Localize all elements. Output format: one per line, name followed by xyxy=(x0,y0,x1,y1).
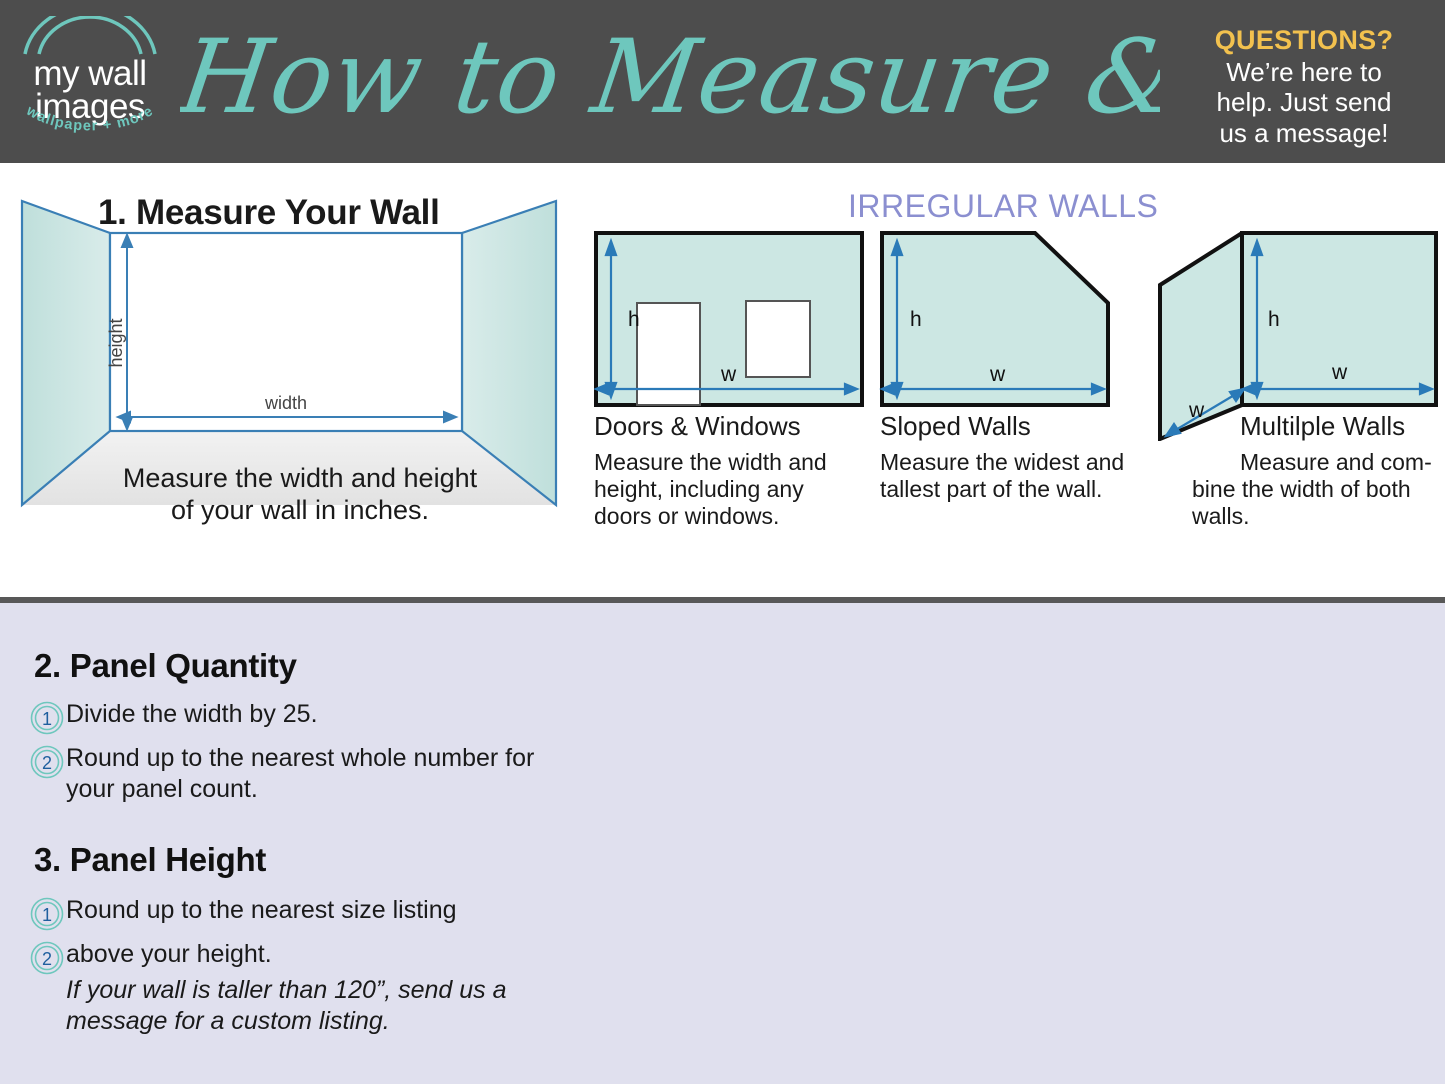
multiple-walls-text-first: Measure and com- xyxy=(1240,449,1432,475)
questions-body-line-2: help. Just send xyxy=(1217,87,1392,117)
brand-logo: my wall images wallpaper + more xyxy=(0,0,180,163)
step-3-bullet-1: 1 Round up to the nearest size listing xyxy=(30,895,570,936)
svg-text:h: h xyxy=(910,308,922,331)
svg-text:w: w xyxy=(1331,361,1348,384)
step-1-caption-line-2: of your wall in inches. xyxy=(70,495,530,527)
svg-text:w: w xyxy=(720,363,737,386)
step-3-bullet-2-text: above your height. xyxy=(66,939,272,970)
logo-arc-icon xyxy=(15,16,165,61)
svg-text:h: h xyxy=(628,308,640,331)
step-2-bullet-2-text: Round up to the nearest whole number for… xyxy=(66,743,550,804)
questions-block: QUESTIONS? We’re here to help. Just send… xyxy=(1177,0,1445,163)
multiple-walls-text-rest: bine the width of both walls. xyxy=(1192,476,1411,529)
doors-windows-text: Measure the width and height, including … xyxy=(594,449,827,528)
svg-text:h: h xyxy=(1268,308,1280,331)
step-2-heading: 2. Panel Quantity xyxy=(34,647,297,685)
step-2-bullet-2: 2 Round up to the nearest whole number f… xyxy=(30,743,550,804)
sloped-walls-diagram: h w xyxy=(882,233,1108,405)
questions-body-line-1: We’re here to xyxy=(1217,57,1392,87)
step-1-caption: Measure the width and height of your wal… xyxy=(70,463,530,527)
multiple-walls-diagram: h w w xyxy=(1160,233,1436,439)
page-title-text: How to Measure & Order xyxy=(180,18,1160,136)
page-title: How to Measure & Order How to Measure & … xyxy=(180,0,1177,163)
doors-windows-diagram: h w xyxy=(596,233,862,405)
step-3-note-text: If your wall is taller than 120”, send u… xyxy=(66,975,570,1036)
logo-line-1: my wall xyxy=(33,58,146,90)
svg-text:1: 1 xyxy=(42,709,52,729)
multiple-walls-title: Multilple Walls xyxy=(1240,411,1445,441)
bullet-number-icon: 1 xyxy=(30,897,66,936)
multiple-walls-caption: Multilple Walls Measure and com-bine the… xyxy=(1192,411,1445,529)
step-1-caption-line-1: Measure the width and height xyxy=(70,463,530,495)
doors-windows-title: Doors & Windows xyxy=(594,411,862,441)
step-3-bullet-1-text: Round up to the nearest size listing xyxy=(66,895,457,926)
logo-tagline: wallpaper + more xyxy=(6,102,174,147)
step-3-heading: 3. Panel Height xyxy=(34,841,266,879)
bullet-number-icon: 1 xyxy=(30,701,66,740)
svg-text:2: 2 xyxy=(42,949,52,969)
svg-text:1: 1 xyxy=(42,905,52,925)
step-3-note: If your wall is taller than 120”, send u… xyxy=(30,975,570,1036)
measure-wall-section: height width 1. Measure Your Wall Measur… xyxy=(0,163,1445,600)
panel-calculation-section: 2. Panel Quantity 1 Divide the width by … xyxy=(0,603,1445,1084)
step-2-bullet-1: 1 Divide the width by 25. xyxy=(30,699,550,740)
doors-windows-caption: Doors & Windows Measure the width and he… xyxy=(594,411,862,529)
questions-heading: QUESTIONS? xyxy=(1215,25,1394,55)
page-header: my wall images wallpaper + more How to M… xyxy=(0,0,1445,163)
svg-text:w: w xyxy=(989,363,1006,386)
sloped-walls-text: Measure the widest and tallest part of t… xyxy=(880,449,1124,502)
multiple-walls-text: Measure and com-bine the width of both w… xyxy=(1192,449,1432,528)
step-3-bullet-2: 2 above your height. xyxy=(30,939,570,980)
svg-text:2: 2 xyxy=(42,753,52,773)
bullet-number-icon: 2 xyxy=(30,745,66,784)
questions-body-line-3: us a message! xyxy=(1217,118,1392,148)
width-label-text: width xyxy=(264,393,307,413)
step-2-bullet-1-text: Divide the width by 25. xyxy=(66,699,318,730)
infographic-page: my wall images wallpaper + more How to M… xyxy=(0,0,1445,1084)
questions-body: We’re here to help. Just send us a messa… xyxy=(1217,57,1392,148)
svg-text:wallpaper + more: wallpaper + more xyxy=(23,102,157,134)
sloped-walls-caption: Sloped Walls Measure the widest and tall… xyxy=(880,411,1148,503)
height-label-text: height xyxy=(106,318,126,367)
irregular-walls-title: IRREGULAR WALLS xyxy=(848,188,1158,225)
sloped-walls-title: Sloped Walls xyxy=(880,411,1148,441)
step-1-title: 1. Measure Your Wall xyxy=(98,193,440,233)
